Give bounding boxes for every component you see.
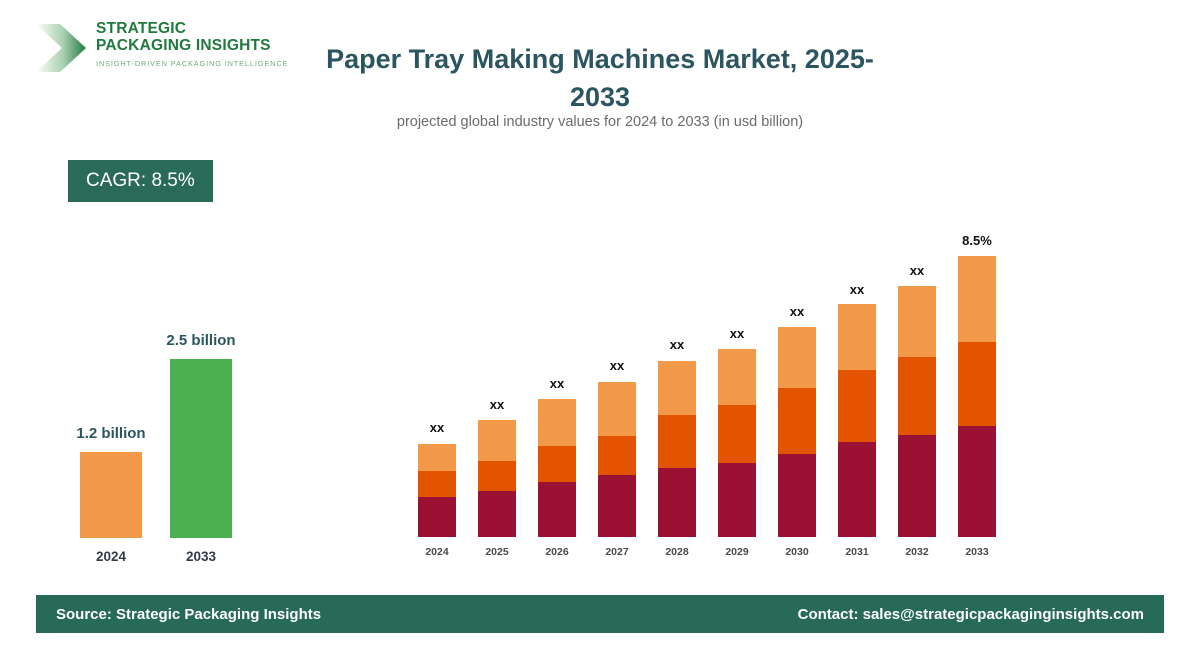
stacked-bar-segment-segment-1 <box>538 482 576 537</box>
stacked-bar-segment-segment-2 <box>718 405 756 463</box>
stacked-bar-column <box>898 286 936 537</box>
chevron-icon <box>34 22 90 74</box>
stacked-bar-value-label: xx <box>817 282 897 297</box>
page-title: Paper Tray Making Machines Market, 2025-… <box>300 40 900 116</box>
stacked-bar-segment-segment-1 <box>418 497 456 537</box>
stacked-bar-column <box>958 256 996 537</box>
stacked-bar-segment-segment-1 <box>598 475 636 537</box>
stacked-bar-segment-segment-2 <box>838 370 876 442</box>
stacked-bar-segment-segment-2 <box>478 461 516 491</box>
stacked-bar-value-label: 8.5% <box>937 233 1017 248</box>
stacked-bar-segment-segment-1 <box>778 454 816 537</box>
stacked-bar-column <box>478 420 516 537</box>
stacked-bar-segment-segment-3 <box>718 349 756 405</box>
stacked-bar-segment-segment-2 <box>598 436 636 475</box>
stacked-bar-segment-segment-3 <box>898 286 936 357</box>
stacked-bar-segment-segment-3 <box>958 256 996 342</box>
stacked-bar-value-label: xx <box>517 376 597 391</box>
stacked-bar-segment-segment-3 <box>418 444 456 471</box>
stacked-bar-segment-segment-2 <box>778 388 816 454</box>
stacked-bar-segment-segment-2 <box>898 357 936 435</box>
stacked-bar-category-label: 2025 <box>467 546 527 558</box>
mini-bar-column: 1.2 billion <box>80 452 142 538</box>
mini-bar-category-label: 2033 <box>170 549 232 564</box>
stacked-bar-value-label: xx <box>877 263 957 278</box>
stacked-bar-segment-segment-2 <box>418 471 456 497</box>
stacked-bar-segment-segment-3 <box>478 420 516 461</box>
stacked-bar-segment-segment-1 <box>898 435 936 537</box>
stacked-bar-value-label: xx <box>697 326 777 341</box>
stacked-bar-column <box>838 304 876 537</box>
footer-bar: Source: Strategic Packaging Insights Con… <box>36 595 1164 633</box>
stacked-bar-column <box>598 382 636 537</box>
stacked-bar-category-label: 2032 <box>887 546 947 558</box>
stacked-bar-segment-segment-1 <box>838 442 876 537</box>
comparison-bar-chart: 1.2 billion20242.5 billion2033 <box>55 300 285 570</box>
mini-bar-category-label: 2024 <box>80 549 142 564</box>
stacked-bar-category-label: 2031 <box>827 546 887 558</box>
stacked-bar-category-label: 2027 <box>587 546 647 558</box>
stacked-bar-column <box>718 349 756 537</box>
stacked-bar-value-label: xx <box>757 304 837 319</box>
stacked-bar-segment-segment-3 <box>598 382 636 436</box>
logo-tagline: INSIGHT-DRIVEN PACKAGING INTELLIGENCE <box>96 59 288 68</box>
logo-line-1: STRATEGIC <box>96 20 288 37</box>
mini-bar <box>170 359 232 538</box>
stacked-bar-column <box>778 327 816 537</box>
stacked-bar-segment-segment-2 <box>538 446 576 482</box>
stacked-bar-category-label: 2033 <box>947 546 1007 558</box>
mini-bar <box>80 452 142 538</box>
page-subtitle: projected global industry values for 202… <box>300 114 900 130</box>
stacked-bar-value-label: xx <box>397 420 477 435</box>
stacked-bar-category-label: 2024 <box>407 546 467 558</box>
stacked-bar-segment-segment-2 <box>958 342 996 426</box>
stacked-bar-segment-segment-1 <box>718 463 756 537</box>
stacked-bar-segment-segment-3 <box>838 304 876 370</box>
mini-bar-value-label: 2.5 billion <box>126 332 276 349</box>
stacked-bar-category-label: 2026 <box>527 546 587 558</box>
logo-wordmark: STRATEGIC PACKAGING INSIGHTS INSIGHT-DRI… <box>96 20 288 68</box>
stacked-bar-column <box>658 361 696 537</box>
stacked-bar-segment-segment-1 <box>478 491 516 537</box>
cagr-badge: CAGR: 8.5% <box>68 160 213 202</box>
stacked-bar-chart: xx2024xx2025xx2026xx2027xx2028xx2029xx20… <box>400 190 1020 560</box>
mini-bar-column: 2.5 billion <box>170 359 232 538</box>
footer-contact: Contact: sales@strategicpackaginginsight… <box>798 606 1144 623</box>
stacked-bar-segment-segment-2 <box>658 415 696 468</box>
stacked-bar-value-label: xx <box>577 358 657 373</box>
stacked-bar-segment-segment-1 <box>958 426 996 537</box>
stacked-bar-category-label: 2029 <box>707 546 767 558</box>
stacked-bar-value-label: xx <box>457 397 537 412</box>
footer-source: Source: Strategic Packaging Insights <box>56 606 321 623</box>
stacked-bar-segment-segment-1 <box>658 468 696 537</box>
stacked-bar-column <box>418 444 456 537</box>
stacked-bar-segment-segment-3 <box>538 399 576 446</box>
logo-line-2: PACKAGING INSIGHTS <box>96 37 288 54</box>
stacked-bar-category-label: 2030 <box>767 546 827 558</box>
stacked-bar-column <box>538 399 576 537</box>
mini-bar-value-label: 1.2 billion <box>36 425 186 442</box>
brand-logo: STRATEGIC PACKAGING INSIGHTS INSIGHT-DRI… <box>34 18 264 78</box>
stacked-bar-segment-segment-3 <box>658 361 696 415</box>
stacked-bar-category-label: 2028 <box>647 546 707 558</box>
stacked-bar-segment-segment-3 <box>778 327 816 388</box>
